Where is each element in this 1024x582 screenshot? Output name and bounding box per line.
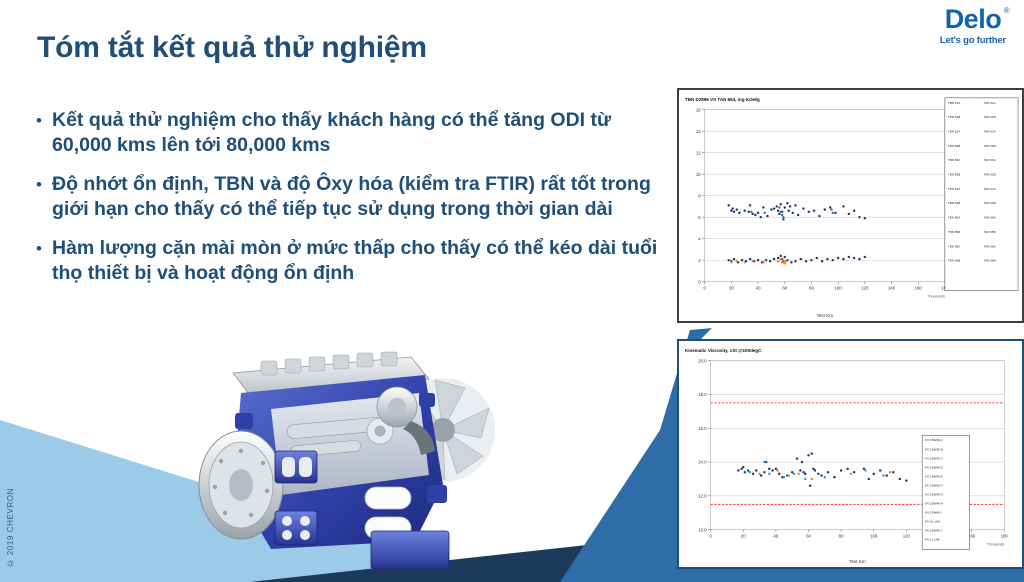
legend-entry: KV UL LIM xyxy=(925,520,940,524)
data-point xyxy=(780,258,782,260)
legend-entry: TBN 54B xyxy=(948,201,960,205)
data-point xyxy=(780,211,782,213)
legend-entry: KV 15W40 A xyxy=(925,438,943,442)
data-point xyxy=(778,206,780,208)
data-point xyxy=(731,207,733,209)
data-point xyxy=(817,473,819,475)
data-point xyxy=(768,473,770,475)
data-point xyxy=(799,469,801,471)
data-point xyxy=(818,215,820,217)
legend-entry: KV 15W40 F xyxy=(925,483,942,487)
data-point xyxy=(749,471,751,473)
data-point xyxy=(778,213,780,215)
data-point xyxy=(769,260,771,262)
data-point xyxy=(797,214,799,216)
data-point xyxy=(826,258,828,260)
x-axis-tick-label: 120 xyxy=(903,534,911,539)
data-point xyxy=(788,209,790,211)
legend-entry: TBN 55B xyxy=(948,230,960,234)
legend-entry: TAN 56B xyxy=(983,259,995,263)
y-axis-tick-label: 0 xyxy=(698,279,701,284)
data-point xyxy=(789,205,791,207)
data-point xyxy=(905,479,907,481)
data-point xyxy=(760,216,762,218)
bullet-text: Độ nhớt ổn định, TBN và độ Ôxy hóa (kiểm… xyxy=(52,172,666,222)
x-axis-tick-label: 140 xyxy=(888,286,896,291)
data-point xyxy=(882,474,884,476)
legend-entry: KV 15W40 H xyxy=(925,502,943,506)
chart-panel-tbn-tan: TBN D2896 VS TAN 664, mg KOH/g0246810121… xyxy=(677,88,1024,323)
x-axis-tick-label: 60 xyxy=(782,286,787,291)
data-point xyxy=(735,260,737,262)
legend-entry: TAN 51A xyxy=(983,101,996,105)
x-axis-tick-label: 40 xyxy=(756,286,761,291)
legend-entry: KV 15W40 B xyxy=(925,447,943,451)
data-point xyxy=(733,258,735,260)
data-point xyxy=(864,217,866,219)
legend-entry: TBN 56A xyxy=(948,244,961,248)
data-point xyxy=(773,207,775,209)
bullet-marker-icon: • xyxy=(36,108,52,158)
data-point xyxy=(821,260,823,262)
x-axis-tick-label: 100 xyxy=(870,534,878,539)
data-point xyxy=(842,205,844,207)
legend-entry: TAN 52A xyxy=(983,129,996,133)
y-axis-tick-label: 2 xyxy=(698,258,701,263)
legend-entry: TBN 51B xyxy=(948,115,960,119)
data-point xyxy=(755,469,757,471)
data-point xyxy=(764,212,766,214)
engine-side-plate-lower xyxy=(275,511,317,545)
chart-panel-kinematic-viscosity: Kinematic Viscosity, cSt @100degC10.012.… xyxy=(677,339,1024,569)
kinematic-viscosity-scatter-chart: Kinematic Viscosity, cSt @100degC10.012.… xyxy=(679,341,1022,567)
x-axis-tick-label: 120 xyxy=(861,286,869,291)
legend-entry: TAN 56A xyxy=(983,244,996,248)
data-point xyxy=(776,205,778,207)
data-point xyxy=(788,474,790,476)
y-axis-tick-label: 14.0 xyxy=(698,460,707,465)
bullet-marker-icon: • xyxy=(36,172,52,222)
data-point xyxy=(766,215,768,217)
x-axis-label: Test Km xyxy=(817,313,834,318)
x-axis-tick-label: 180 xyxy=(1001,534,1009,539)
data-point xyxy=(837,257,839,259)
data-point xyxy=(802,207,804,209)
data-point xyxy=(777,260,779,262)
legend-entry: TBN 54A xyxy=(948,187,961,191)
data-point xyxy=(892,471,894,473)
copyright-notice: © 2019 CHEVRON xyxy=(6,488,15,568)
legend-entry: KV 15W40 E xyxy=(925,474,943,478)
bullet-text: Hàm lượng cặn mài mòn ở mức thấp cho thấ… xyxy=(52,236,666,286)
data-point xyxy=(832,212,834,214)
data-point xyxy=(820,474,822,476)
data-point xyxy=(743,261,745,263)
legend-entry: KV LL LIM xyxy=(925,538,940,542)
data-point xyxy=(800,258,802,260)
data-point xyxy=(809,484,811,486)
data-point xyxy=(794,260,796,262)
delo-logo-tagline: Let's go further xyxy=(940,35,1006,46)
y-axis-tick-label: 4 xyxy=(698,236,701,241)
data-point xyxy=(738,212,740,214)
data-point xyxy=(889,471,891,473)
data-point xyxy=(763,461,765,463)
engine-oil-pan xyxy=(371,531,449,569)
data-point xyxy=(784,206,786,208)
legend-entry: TBN 53A xyxy=(948,158,961,162)
data-point xyxy=(770,208,772,210)
data-point xyxy=(848,213,850,215)
data-point xyxy=(816,257,818,259)
tbn-tan-scatter-chart: TBN D2896 VS TAN 664, mg KOH/g0246810121… xyxy=(679,90,1022,321)
data-point xyxy=(781,261,783,263)
data-point xyxy=(858,216,860,218)
x-axis-tick-label: 0 xyxy=(709,534,712,539)
x-axis-tick-label: 100 xyxy=(835,286,843,291)
x-axis-unit-note: Thousands xyxy=(927,294,945,298)
y-axis-tick-label: 10.0 xyxy=(698,527,707,532)
data-point xyxy=(771,469,773,471)
data-point xyxy=(744,471,746,473)
x-axis-tick-label: 160 xyxy=(915,286,923,291)
data-point xyxy=(778,473,780,475)
engine-image xyxy=(175,335,505,582)
data-point xyxy=(727,204,729,206)
data-point xyxy=(733,211,735,213)
data-point xyxy=(782,259,784,261)
data-point xyxy=(864,469,866,471)
x-axis-tick-label: 40 xyxy=(773,534,778,539)
data-point xyxy=(846,468,848,470)
x-axis-tick-label: 20 xyxy=(741,534,746,539)
legend-entry: KV 15W40 I xyxy=(925,511,941,515)
data-point xyxy=(808,211,810,213)
legend-entry: TAN 55A xyxy=(983,216,996,220)
data-point xyxy=(749,204,751,206)
data-point xyxy=(827,471,829,473)
data-point xyxy=(853,471,855,473)
data-point xyxy=(784,262,786,264)
legend-entry: TBN 53B xyxy=(948,173,960,177)
y-axis-tick-label: 20.0 xyxy=(698,358,707,363)
legend-entry: TBN 52A xyxy=(948,129,961,133)
y-axis-tick-label: 14 xyxy=(696,129,701,134)
legend-entry: KV 15W40 C xyxy=(925,456,943,460)
x-axis-tick-label: 60 xyxy=(806,534,811,539)
data-point xyxy=(810,259,812,261)
data-point xyxy=(735,208,737,210)
data-point xyxy=(727,259,729,261)
data-point xyxy=(792,212,794,214)
data-point xyxy=(832,259,834,261)
engine-side-plate-upper xyxy=(275,451,317,483)
legend-entry: TAN 51B xyxy=(983,115,995,119)
bullet-text: Kết quả thử nghiệm cho thấy khách hàng c… xyxy=(52,108,666,158)
legend-entry: TAN 53B xyxy=(983,173,995,177)
page-title: Tóm tắt kết quả thử nghiệm xyxy=(37,31,427,65)
data-point xyxy=(804,473,806,475)
y-axis-tick-label: 16 xyxy=(696,107,701,112)
data-point xyxy=(750,211,752,213)
data-point xyxy=(762,261,764,263)
legend-entry: TAN 53A xyxy=(983,158,996,162)
data-point xyxy=(748,211,750,213)
legend-entry: TBN 55A xyxy=(948,216,961,220)
data-point xyxy=(752,473,754,475)
data-point xyxy=(777,209,779,211)
data-point xyxy=(824,476,826,478)
data-point xyxy=(768,468,770,470)
legend-entry: KV 15W40 G xyxy=(925,492,943,496)
data-point xyxy=(785,260,787,262)
data-point xyxy=(781,214,783,216)
data-point xyxy=(886,474,888,476)
data-point xyxy=(848,256,850,258)
data-point xyxy=(834,212,836,214)
y-axis-tick-label: 8 xyxy=(698,193,701,198)
data-point xyxy=(793,473,795,475)
registered-mark-icon: ® xyxy=(1004,7,1009,15)
legend-entry: TBN 56B xyxy=(948,259,960,263)
delo-logo: Delo® Let's go further xyxy=(940,6,1006,46)
list-item: • Hàm lượng cặn mài mòn ở mức thấp cho t… xyxy=(36,236,666,286)
legend-entry: TAN 54B xyxy=(983,201,995,205)
data-point xyxy=(853,257,855,259)
data-point xyxy=(742,466,744,468)
data-point xyxy=(749,258,751,260)
data-point xyxy=(824,208,826,210)
data-point xyxy=(829,206,831,208)
bullet-list: • Kết quả thử nghiệm cho thấy khách hàng… xyxy=(36,108,666,300)
y-axis-tick-label: 10 xyxy=(696,172,701,177)
data-point xyxy=(864,256,866,258)
legend-entry: TAN 54A xyxy=(983,187,996,191)
data-point xyxy=(730,209,732,211)
legend-entry: KV 15W40 D xyxy=(925,465,943,469)
chart-title: TBN D2896 VS TAN 664, mg KOH/g xyxy=(685,97,760,102)
data-point xyxy=(757,259,759,261)
data-point xyxy=(868,478,870,480)
x-axis-label: Test Km xyxy=(849,559,866,564)
legend-entry: KV 15W40 J xyxy=(925,529,942,533)
data-point xyxy=(805,260,807,262)
legend-entry: TAN 52B xyxy=(983,144,995,148)
x-axis-tick-label: 80 xyxy=(809,286,814,291)
data-point xyxy=(777,257,779,259)
data-point xyxy=(757,212,759,214)
y-axis-tick-label: 16.0 xyxy=(698,426,707,431)
data-point xyxy=(737,469,739,471)
delo-logo-wordmark: Delo® xyxy=(945,6,1002,33)
y-axis-tick-label: 6 xyxy=(698,215,701,220)
data-point xyxy=(811,452,813,454)
data-point xyxy=(758,473,760,475)
data-point xyxy=(797,473,799,475)
data-point xyxy=(786,202,788,204)
data-point xyxy=(780,255,782,257)
legend-entry: TBN 52B xyxy=(948,144,960,148)
data-point xyxy=(782,218,784,220)
data-point xyxy=(853,209,855,211)
data-point xyxy=(790,261,792,263)
legend-entry: TBN 51A xyxy=(948,101,961,105)
data-point xyxy=(783,476,785,478)
chart-legend: KV 15W40 AKV 15W40 BKV 15W40 CKV 15W40 D… xyxy=(922,435,969,549)
data-point xyxy=(814,469,816,471)
legend-entry: TAN 55B xyxy=(983,230,995,234)
engine-bellhousing xyxy=(199,431,283,539)
data-point xyxy=(813,209,815,211)
data-point xyxy=(879,469,881,471)
data-point xyxy=(782,216,784,218)
data-point xyxy=(850,473,852,475)
y-axis-tick-label: 12 xyxy=(696,150,701,155)
data-point xyxy=(741,259,743,261)
data-point xyxy=(872,473,874,475)
data-point xyxy=(773,258,775,260)
data-point xyxy=(801,461,803,463)
data-point xyxy=(804,478,806,480)
data-point xyxy=(752,260,754,262)
x-axis-tick-label: 80 xyxy=(839,534,844,539)
data-point xyxy=(730,261,732,263)
data-point xyxy=(754,214,756,216)
list-item: • Độ nhớt ổn định, TBN và độ Ôxy hóa (ki… xyxy=(36,172,666,222)
y-axis-tick-label: 18.0 xyxy=(698,392,707,397)
data-point xyxy=(796,457,798,459)
data-point xyxy=(784,256,786,258)
list-item: • Kết quả thử nghiệm cho thấy khách hàng… xyxy=(36,108,666,158)
bullet-marker-icon: • xyxy=(36,236,52,286)
data-point xyxy=(830,208,832,210)
data-point xyxy=(780,203,782,205)
data-point xyxy=(833,476,835,478)
data-point xyxy=(858,258,860,260)
chart-legend: TBN 51ATAN 51ATBN 51BTAN 51BTBN 52ATAN 5… xyxy=(945,98,1018,291)
data-point xyxy=(807,454,809,456)
data-point xyxy=(899,478,901,480)
data-point xyxy=(840,469,842,471)
data-point xyxy=(794,204,796,206)
data-point xyxy=(763,471,765,473)
x-axis-tick-label: 20 xyxy=(729,286,734,291)
data-point xyxy=(762,206,764,208)
chart-title: Kinematic Viscosity, cSt @100degC xyxy=(685,348,762,353)
x-axis-unit-note: Thousands xyxy=(987,542,1005,546)
data-point xyxy=(842,258,844,260)
data-point xyxy=(765,259,767,261)
y-axis-tick-label: 12.0 xyxy=(698,494,707,499)
data-point xyxy=(776,469,778,471)
x-axis-tick-label: 0 xyxy=(703,286,706,291)
data-point xyxy=(752,213,754,215)
data-point xyxy=(811,478,813,480)
data-point xyxy=(743,209,745,211)
